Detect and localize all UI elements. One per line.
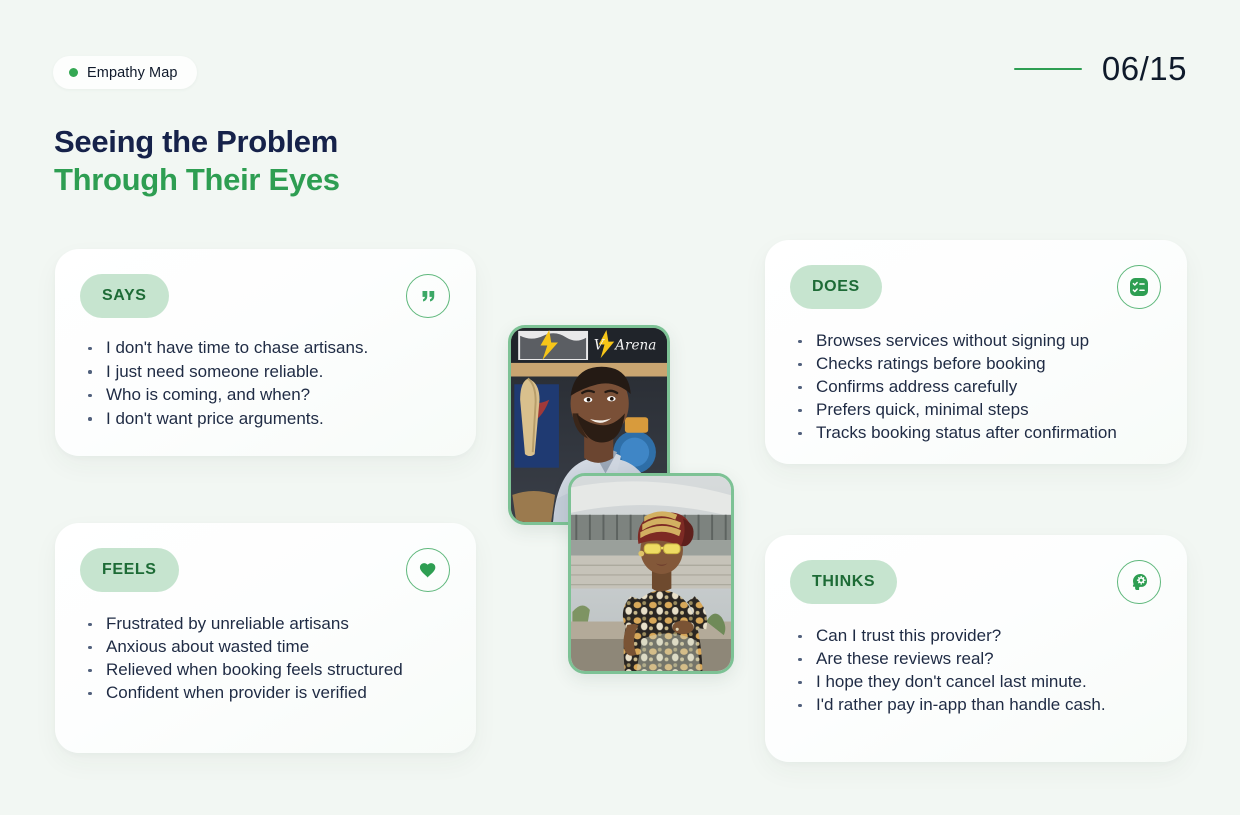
head-gear-icon [1117,560,1161,604]
checklist-icon [1117,265,1161,309]
green-dot-icon [69,68,78,77]
quadrant-list-feels: Frustrated by unreliable artisans Anxiou… [83,612,450,704]
quadrant-badge-says: SAYS [80,274,169,318]
svg-text:V: V [594,337,605,353]
quadrant-list-says: I don't have time to chase artisans. I j… [83,336,450,430]
quadrant-list-thinks: Can I trust this provider? Are these rev… [793,624,1161,716]
card-header-thinks: THINKS [790,560,1161,606]
horizontal-rule-icon [1014,68,1082,71]
list-item: Confirms address carefully [793,375,1161,398]
persona-photo-woman [568,473,734,674]
eyebrow-label: Empathy Map [87,65,178,81]
list-item: I don't want price arguments. [83,407,450,431]
quadrant-badge-does: DOES [790,265,882,309]
list-item: Prefers quick, minimal steps [793,398,1161,421]
quadrant-list-does: Browses services without signing up Chec… [793,329,1161,444]
list-item: Relieved when booking feels structured [83,658,450,681]
list-item: Browses services without signing up [793,329,1161,352]
quadrant-badge-thinks: THINKS [790,560,897,604]
card-header-feels: FEELS [80,548,450,594]
list-item: Who is coming, and when? [83,383,450,407]
list-item: Can I trust this provider? [793,624,1161,647]
quadrant-card-says: SAYS I don't have time to chase artisans… [55,249,476,456]
quadrant-badge-feels: FEELS [80,548,179,592]
title-line-2: Through Their Eyes [54,161,340,199]
page-title: Seeing the Problem Through Their Eyes [54,123,340,199]
list-item: Are these reviews real? [793,647,1161,670]
title-line-1: Seeing the Problem [54,123,340,161]
svg-text:Arena: Arena [613,337,656,353]
list-item: Frustrated by unreliable artisans [83,612,450,635]
list-item: Tracks booking status after confirmation [793,421,1161,444]
quadrant-card-feels: FEELS Frustrated by unreliable artisans … [55,523,476,753]
card-header-does: DOES [790,265,1161,311]
eyebrow-badge: Empathy Map [53,56,197,89]
list-item: Anxious about wasted time [83,635,450,658]
card-header-says: SAYS [80,274,450,320]
list-item: I'd rather pay in-app than handle cash. [793,693,1161,716]
list-item: Confident when provider is verified [83,681,450,704]
quadrant-card-does: DOES Browses services without signing up… [765,240,1187,464]
list-item: I hope they don't cancel last minute. [793,670,1161,693]
list-item: I just need someone reliable. [83,360,450,384]
heart-icon [406,548,450,592]
persona-photo-woman-image [571,476,731,671]
page-indicator: 06/15 [1014,50,1187,88]
slide-canvas: Empathy Map 06/15 Seeing the Problem Thr… [0,0,1240,815]
page-number: 06/15 [1102,50,1187,88]
quote-icon [406,274,450,318]
quadrant-card-thinks: THINKS [765,535,1187,762]
list-item: Checks ratings before booking [793,352,1161,375]
list-item: I don't have time to chase artisans. [83,336,450,360]
